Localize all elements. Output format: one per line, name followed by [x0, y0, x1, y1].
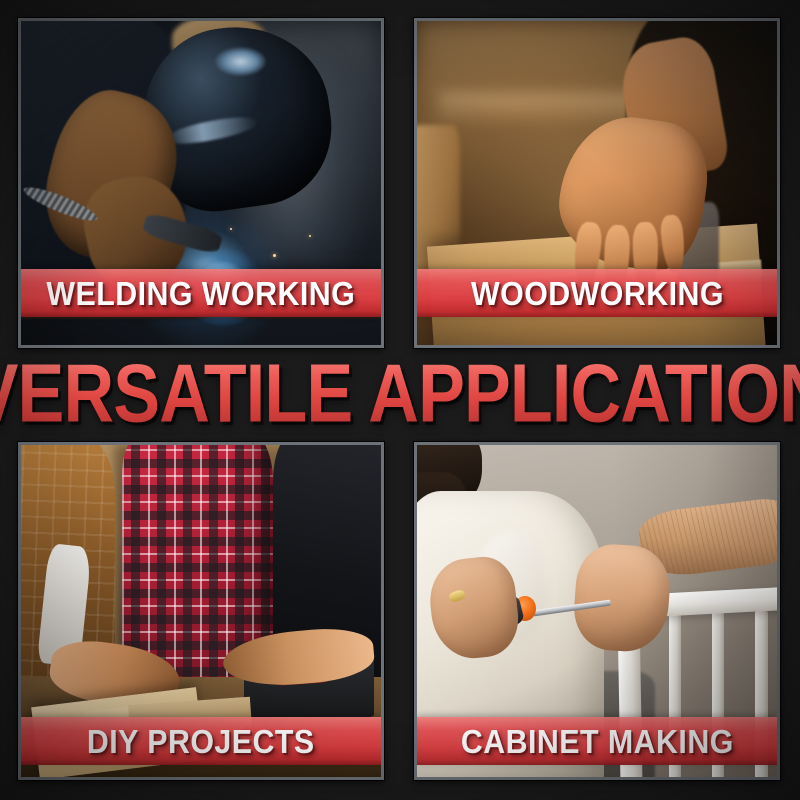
panel-cabinet-making[interactable]: CABINET MAKING	[414, 442, 780, 780]
panel-label-woodworking: WOODWORKING	[471, 277, 724, 310]
spark	[230, 228, 232, 230]
label-band-woodworking: WOODWORKING	[417, 269, 777, 317]
panel-welding[interactable]: WELDING WORKING	[18, 18, 384, 348]
panel-label-cabinet: CABINET MAKING	[461, 725, 734, 758]
versatile-application-poster: WELDING WORKING WOODWO	[0, 0, 800, 800]
helmet-glare	[215, 47, 265, 76]
panel-label-welding: WELDING WORKING	[47, 277, 356, 310]
panel-label-diy: DIY PROJECTS	[87, 725, 315, 758]
panel-diy-projects[interactable]: DIY PROJECTS	[18, 442, 384, 780]
poster-headline: VERSATILE APPLICATION	[0, 352, 800, 435]
label-band-cabinet: CABINET MAKING	[417, 717, 777, 765]
label-band-welding: WELDING WORKING	[21, 269, 381, 317]
panel-woodworking[interactable]: WOODWORKING	[414, 18, 780, 348]
headline-container: VERSATILE APPLICATION	[0, 352, 800, 434]
spark	[309, 235, 311, 237]
label-band-diy: DIY PROJECTS	[21, 717, 381, 765]
